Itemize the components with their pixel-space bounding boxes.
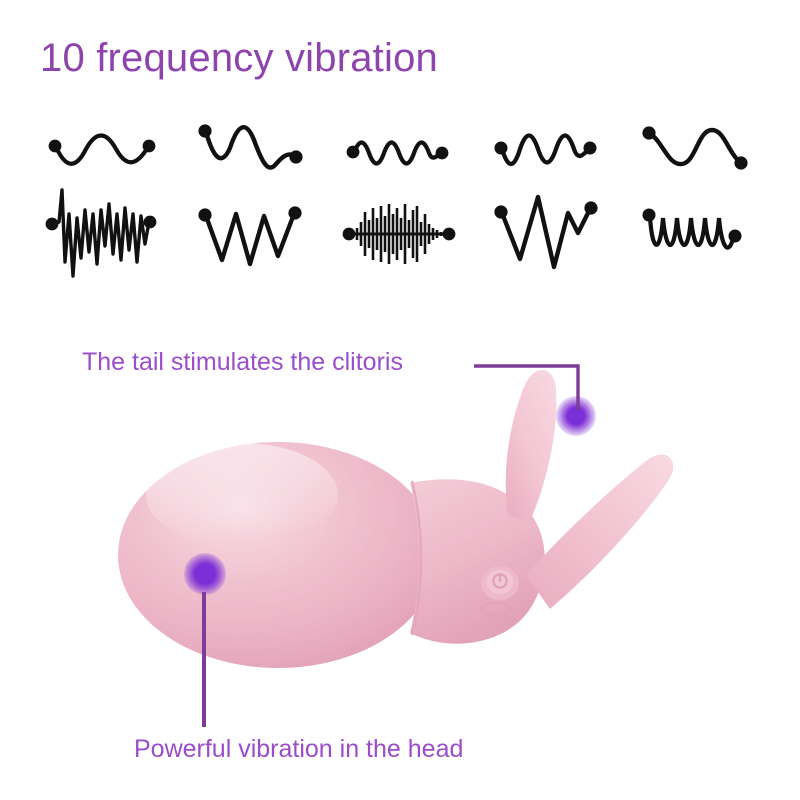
gentle-sine-wave-icon	[44, 123, 164, 183]
audio-bar-wave-icon	[337, 194, 463, 274]
waveform-cell-1	[30, 118, 178, 188]
power-button[interactable]	[481, 566, 519, 600]
waveform-cell-8	[326, 188, 474, 280]
waveform-cell-2	[178, 118, 326, 188]
waveform-cell-5	[622, 118, 770, 188]
tall-sine-wave-icon	[192, 118, 312, 188]
tail-prong-right	[526, 454, 673, 609]
wide-sine-wave-icon	[636, 118, 756, 188]
head-annotation-label: Powerful vibration in the head	[134, 735, 463, 764]
product-illustration	[110, 365, 690, 725]
small-ripple-wave-icon	[340, 123, 460, 183]
waveform-cell-7	[178, 188, 326, 280]
tail-prong-left	[506, 370, 557, 521]
infographic-page: 10 frequency vibration	[0, 0, 800, 800]
zigzag-wave-icon	[192, 194, 312, 274]
dense-spike-wave-icon	[41, 188, 167, 280]
waveform-cell-10	[622, 188, 770, 280]
waveform-grid	[30, 118, 770, 258]
tight-oscillation-wave-icon	[636, 194, 756, 274]
medium-ripple-wave-icon	[488, 123, 608, 183]
waveform-cell-6	[30, 188, 178, 280]
waveform-cell-9	[474, 188, 622, 280]
body-highlight	[146, 443, 338, 547]
tail-annotation-label: The tail stimulates the clitoris	[82, 348, 403, 377]
sharp-zigzag-wave-icon	[488, 189, 608, 279]
page-title: 10 frequency vibration	[40, 36, 438, 81]
waveform-cell-3	[326, 118, 474, 188]
waveform-cell-4	[474, 118, 622, 188]
